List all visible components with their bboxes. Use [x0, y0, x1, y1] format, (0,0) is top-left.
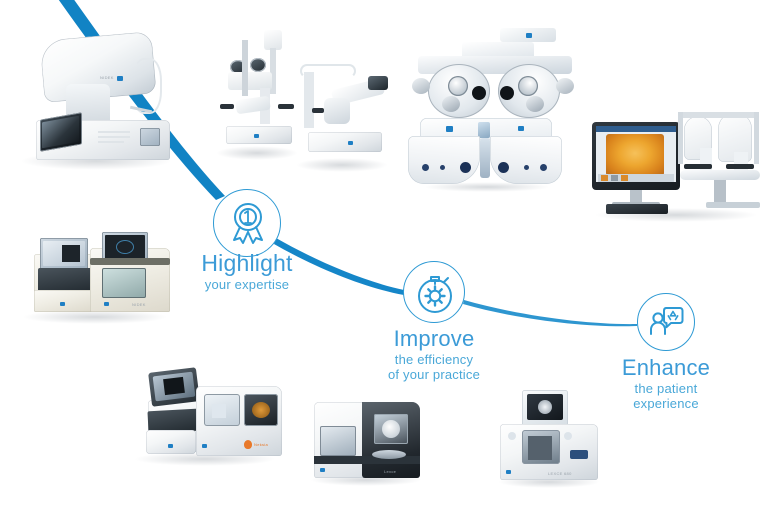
lens-edger-compact-photo: Lexce — [306, 388, 428, 488]
step-label-improve: Improve the efficiency of your practice — [334, 326, 534, 383]
step-label-enhance: Enhance the patient experience — [566, 355, 766, 412]
stopwatch-gear-icon — [404, 262, 466, 324]
infographic-canvas: NIDEK — [0, 0, 768, 512]
fundus-workstation-photo — [588, 104, 764, 226]
step-badge-highlight[interactable] — [213, 189, 281, 257]
lens-edger-white-photo: Neksia — [126, 356, 284, 468]
person-speech-bubble-icon — [638, 294, 696, 352]
award-ribbon-icon — [214, 190, 282, 258]
step-subtitle-improve-line-1: the efficiency — [334, 352, 534, 367]
digital-phoropter-photo — [406, 118, 566, 190]
step-badge-enhance[interactable] — [637, 293, 695, 351]
step-title-highlight: Highlight — [147, 250, 347, 277]
step-subtitle-enhance-line-2: experience — [566, 396, 766, 411]
step-subtitle-enhance-line-1: the patient — [566, 381, 766, 396]
step-title-improve: Improve — [334, 326, 534, 352]
step-label-highlight: Highlight your expertise — [147, 250, 347, 292]
step-subtitle-highlight-line-1: your expertise — [147, 277, 347, 292]
step-title-enhance: Enhance — [566, 355, 766, 381]
manual-phoropter-photo — [404, 26, 582, 118]
step-subtitle-improve-line-2: of your practice — [334, 367, 534, 382]
slit-lamp-pair-photo — [212, 28, 392, 168]
step-badge-improve[interactable] — [403, 261, 465, 323]
oct-fundus-camera-photo: NIDEK — [14, 30, 180, 170]
